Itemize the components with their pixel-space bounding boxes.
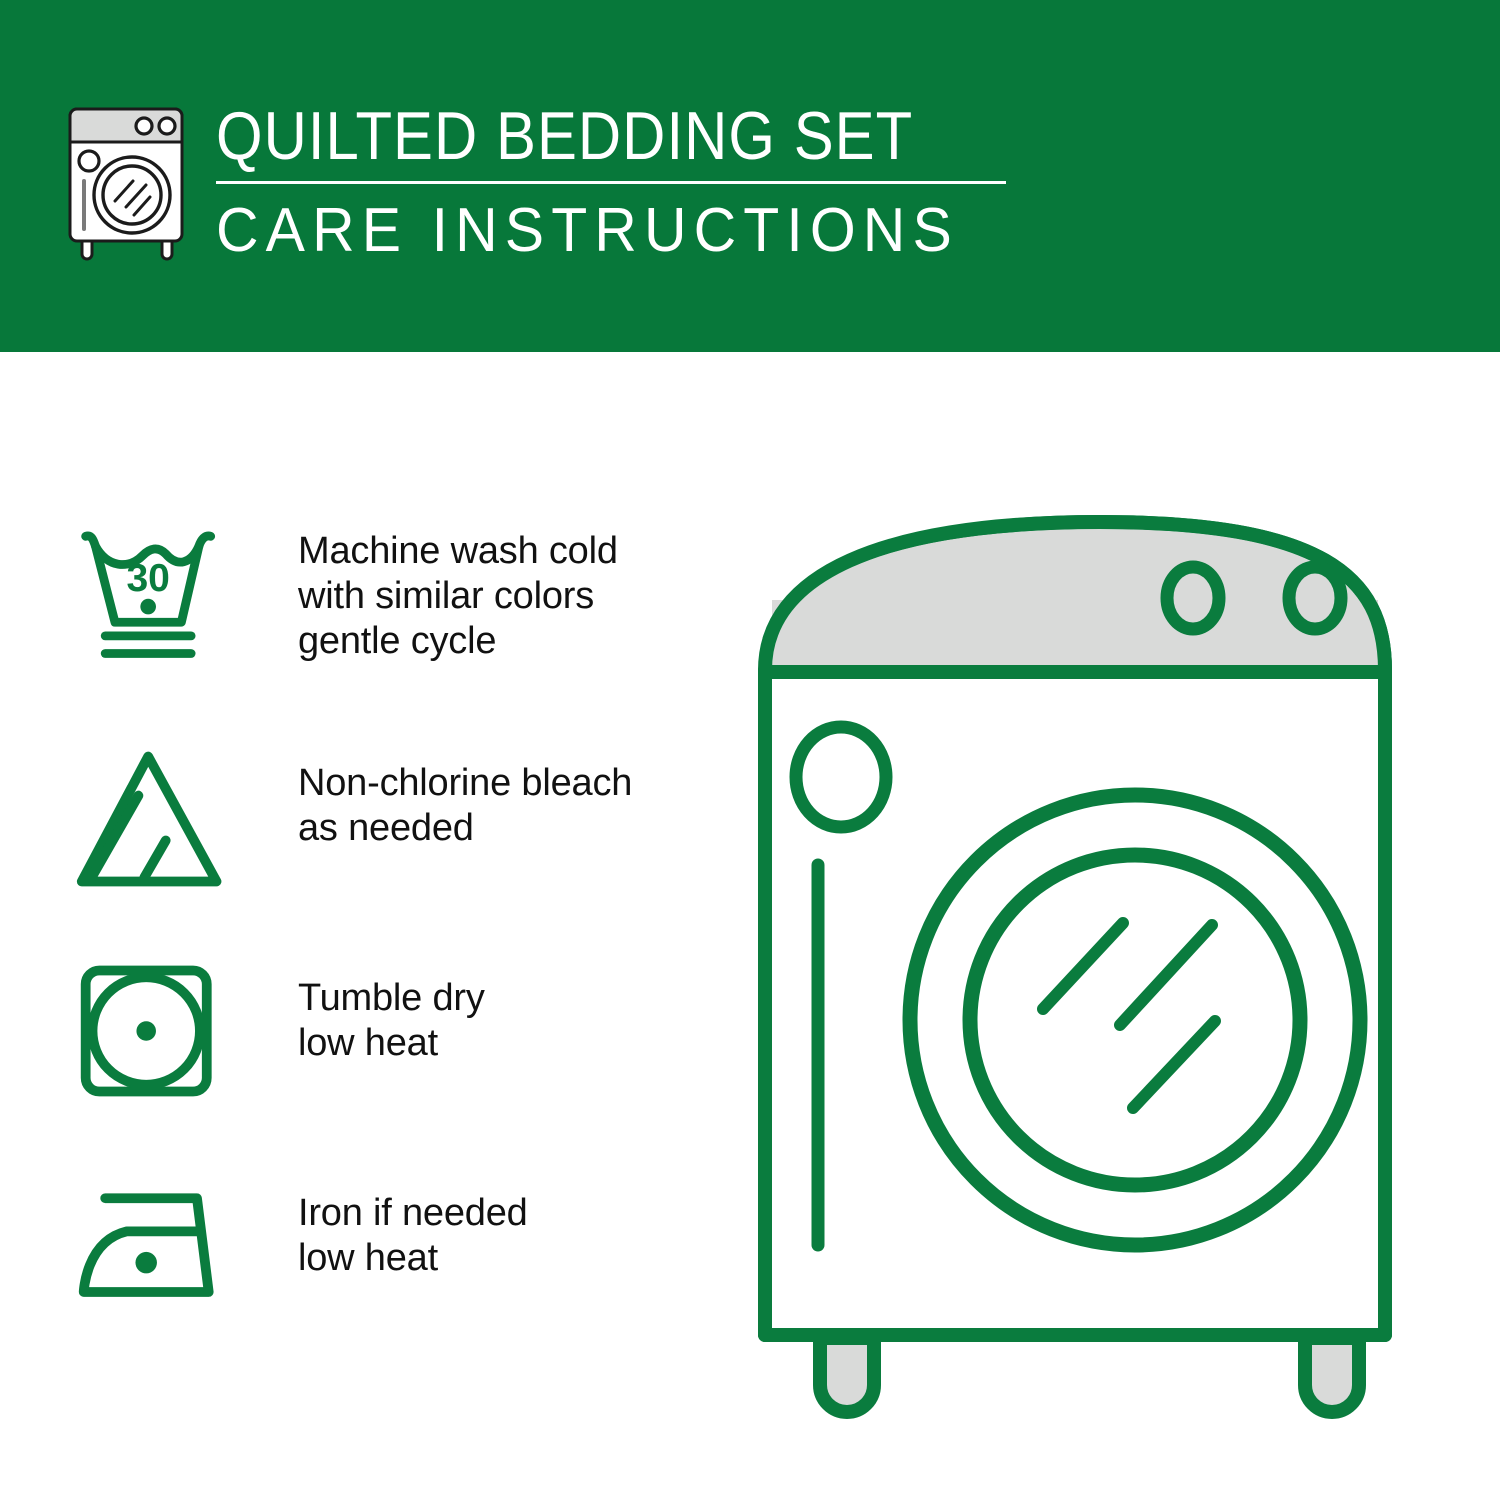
care-text-line: Machine wash cold [298, 529, 712, 574]
header-divider [216, 181, 1006, 184]
care-text-line: with similar colors [298, 574, 712, 619]
care-text-line: Non-chlorine bleach [298, 761, 712, 806]
care-text-line: Tumble dry [298, 976, 712, 1021]
care-instruction-row-bleach: Non-chlorine bleach as needed [72, 733, 712, 951]
care-instruction-text-iron: Iron if needed low heat [238, 1169, 712, 1281]
non-chlorine-bleach-triangle-icon [72, 733, 238, 893]
tumble-dry-low-icon [72, 951, 238, 1105]
header-band: QUILTED BEDDING SET CARE INSTRUCTIONS [0, 0, 1500, 352]
header-content: QUILTED BEDDING SET CARE INSTRUCTIONS [62, 95, 1062, 275]
care-text-line: low heat [298, 1236, 712, 1281]
care-instruction-list: 30 Machine wash cold with similar colors… [72, 515, 712, 1387]
header-text-block: QUILTED BEDDING SET CARE INSTRUCTIONS [216, 95, 1062, 264]
wash-tub-30-gentle-icon: 30 [72, 515, 238, 665]
care-instruction-row-iron: Iron if needed low heat [72, 1169, 712, 1387]
leg-left [820, 1338, 874, 1412]
page-subtitle: CARE INSTRUCTIONS [216, 198, 1020, 264]
washing-machine-icon [62, 95, 194, 263]
care-instruction-text-wash: Machine wash cold with similar colors ge… [238, 515, 712, 664]
care-text-line: low heat [298, 1021, 712, 1066]
care-instruction-row-tumble-dry: Tumble dry low heat [72, 951, 712, 1169]
iron-low-heat-icon [72, 1169, 238, 1333]
care-instruction-row-wash: 30 Machine wash cold with similar colors… [72, 515, 712, 733]
care-instruction-text-bleach: Non-chlorine bleach as needed [238, 733, 712, 851]
care-instruction-text-tumble-dry: Tumble dry low heat [238, 951, 712, 1066]
wash-temperature-label: 30 [126, 557, 169, 600]
front-load-washing-machine-illustration [745, 500, 1455, 1420]
leg-right [1305, 1338, 1359, 1412]
care-instructions-page: QUILTED BEDDING SET CARE INSTRUCTIONS [0, 0, 1500, 1500]
care-text-line: Iron if needed [298, 1191, 712, 1236]
care-text-line: gentle cycle [298, 619, 712, 664]
care-text-line: as needed [298, 806, 712, 851]
page-title: QUILTED BEDDING SET [216, 99, 960, 173]
